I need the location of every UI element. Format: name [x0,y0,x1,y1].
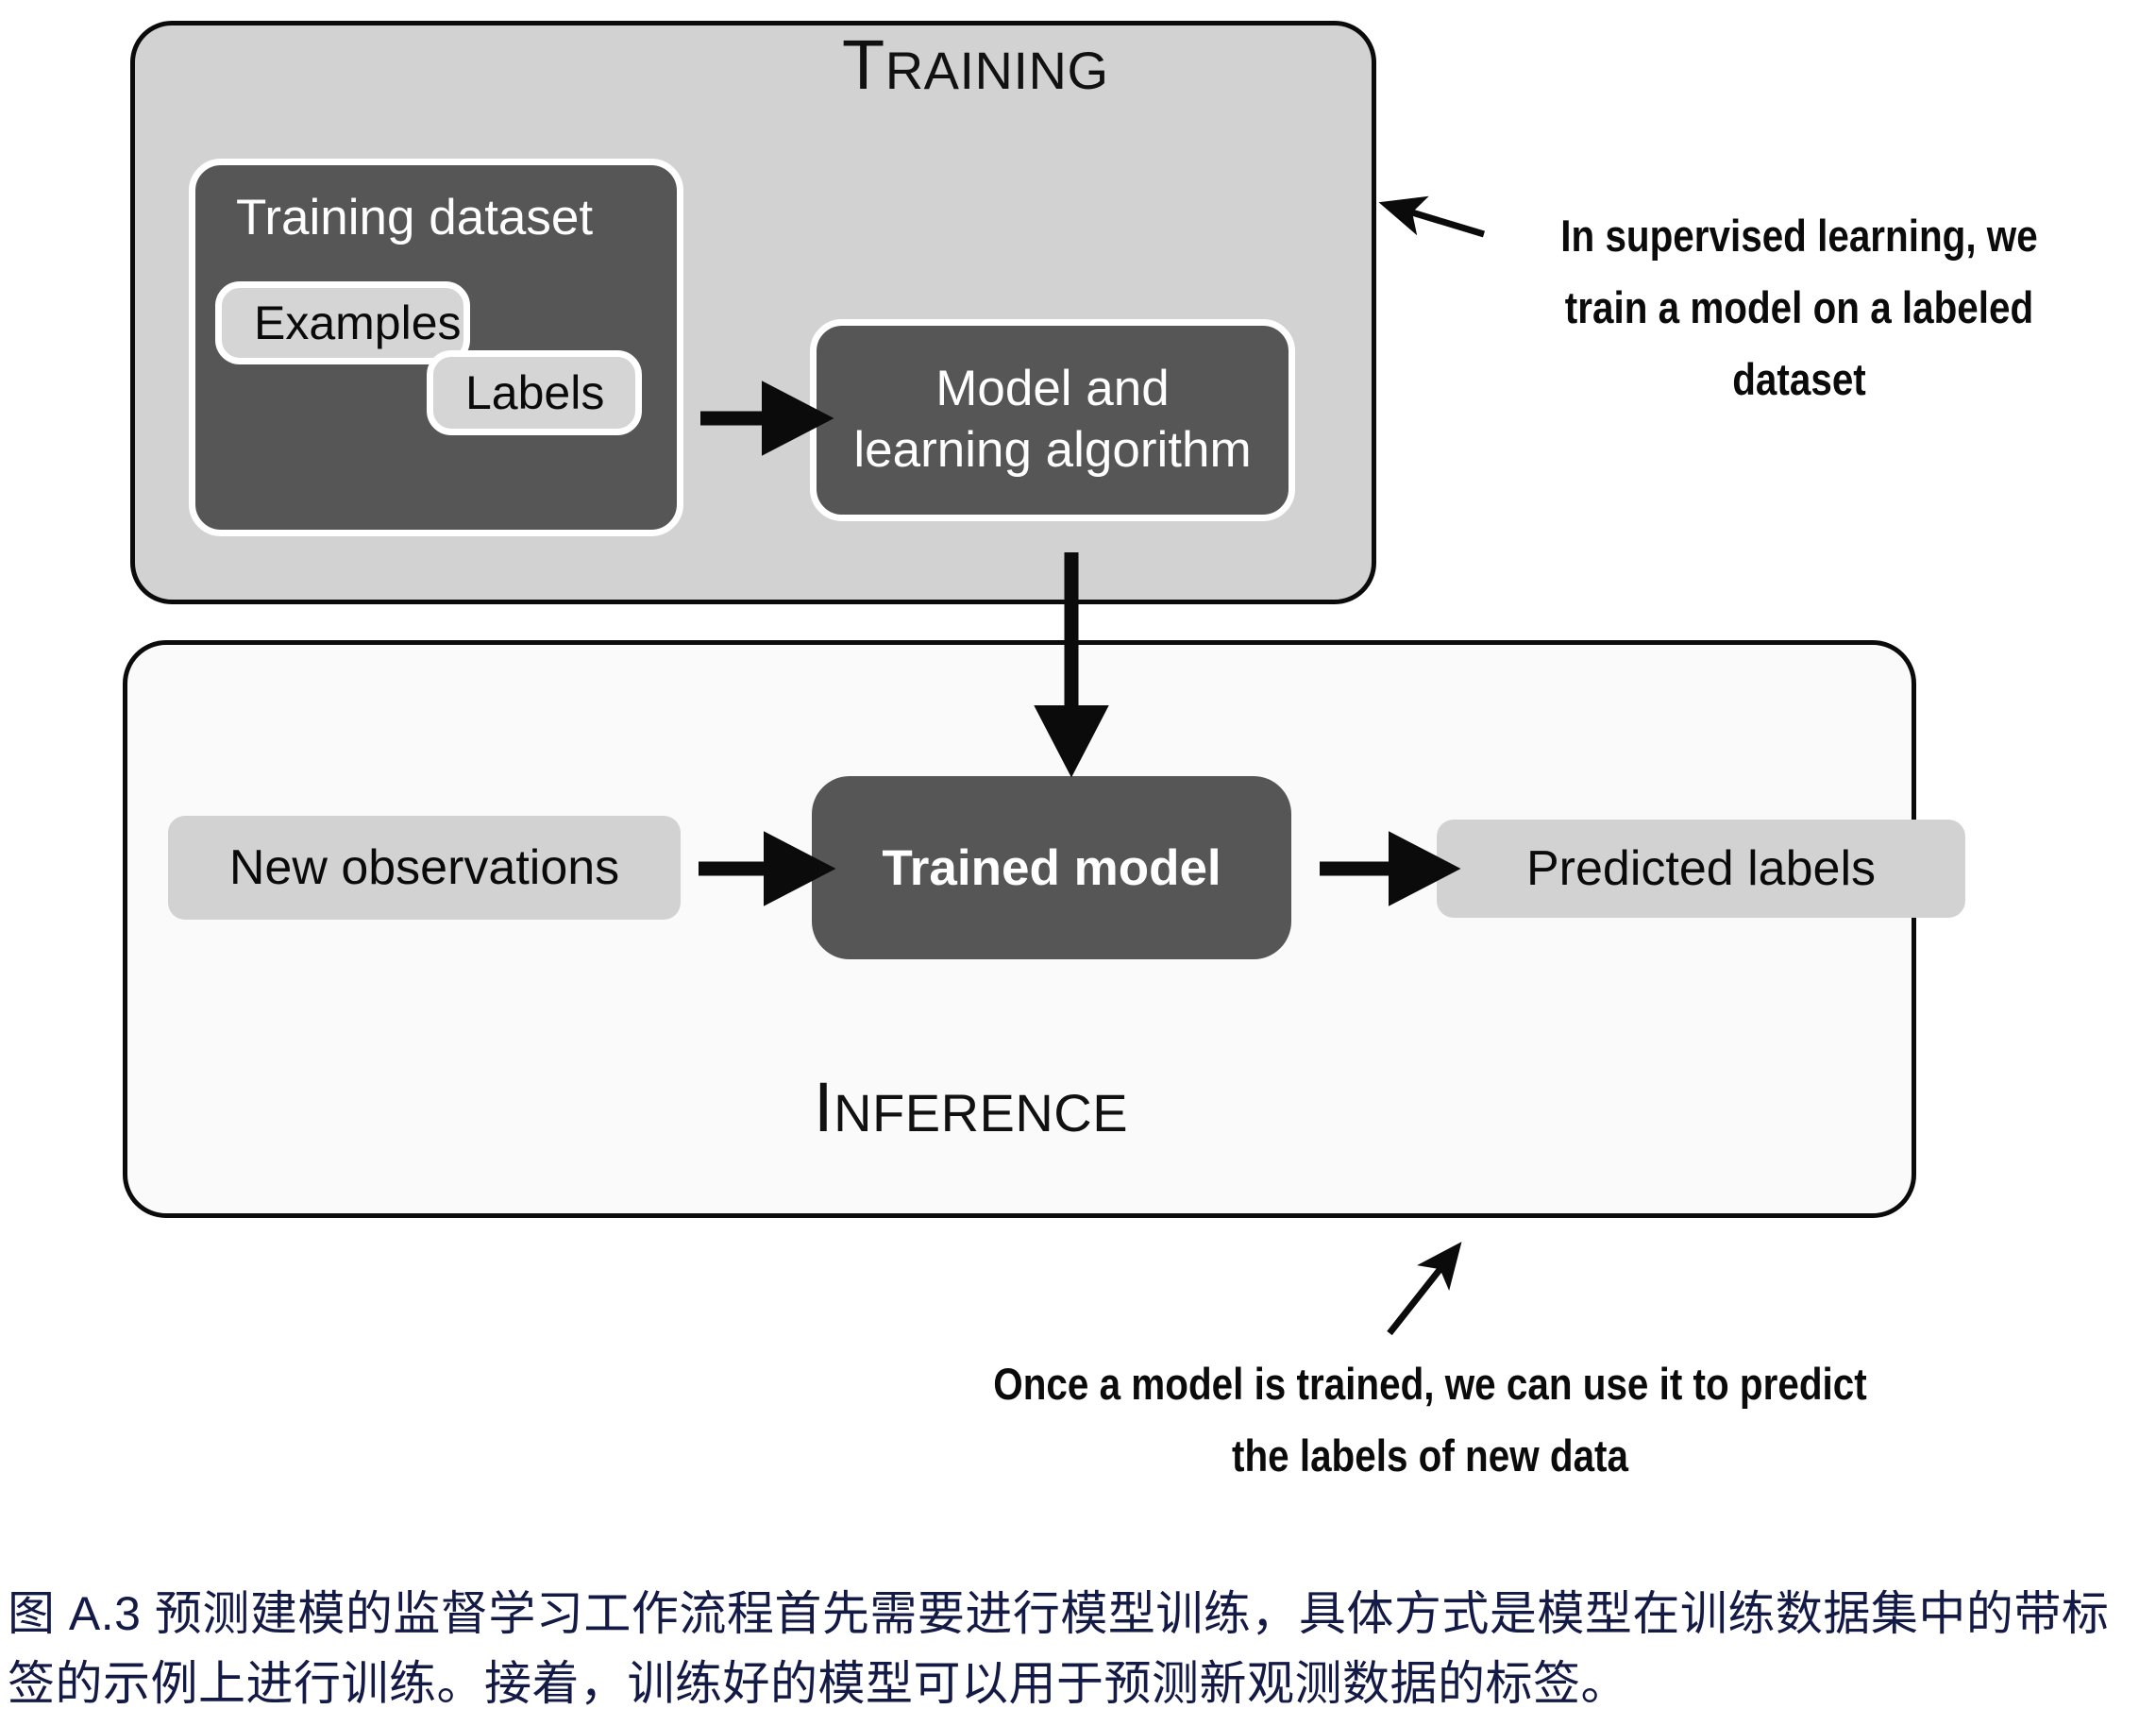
annotation-top-text: In supervised learning, we train a model… [1547,200,2050,415]
training-title-initial: T [842,25,885,104]
figure-caption: 图 A.3 预测建模的监督学习工作流程首先需要进行模型训练，具体方式是模型在训练… [8,1579,2141,1718]
examples-chip: Examples [215,281,470,364]
inference-section-title: INFERENCE [814,1067,1128,1147]
training-title-rest: RAINING [885,41,1109,100]
arrow-up-right-icon-bottom-annotation [1390,1261,1446,1333]
model-line-2: learning algorithm [853,420,1251,482]
arrow-up-left-icon-top-annotation [1403,210,1484,234]
labels-label: Labels [465,365,604,420]
annotation-bottom-text: Once a model is trained, we can use it t… [971,1348,1889,1492]
predicted-labels-label: Predicted labels [1526,840,1876,897]
predicted-labels-box: Predicted labels [1437,820,1965,918]
new-observations-label: New observations [229,839,619,896]
figure-canvas: TRAINING Training dataset Examples Label… [0,0,2156,1726]
training-section-title: TRAINING [842,25,1109,105]
model-box-text: Model and learning algorithm [853,359,1251,481]
trained-model-box: Trained model [812,776,1291,959]
model-and-learning-algorithm-box: Model and learning algorithm [810,319,1295,521]
trained-model-label: Trained model [882,839,1221,897]
model-line-1: Model and [853,359,1251,420]
inference-title-initial: I [814,1068,834,1146]
examples-label: Examples [254,296,462,350]
labels-chip: Labels [427,350,642,435]
inference-title-rest: NFERENCE [834,1083,1128,1142]
training-dataset-label: Training dataset [236,189,593,246]
new-observations-box: New observations [168,816,681,920]
